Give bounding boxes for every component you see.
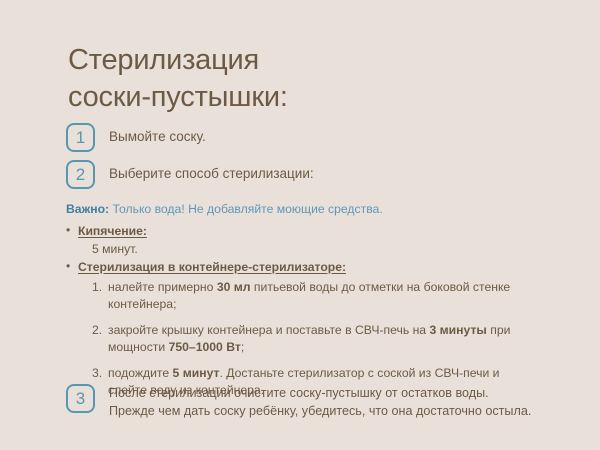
list-item-text: закройте крышку контейнера и поставьте в… (108, 322, 538, 356)
step-1-text: Вымойте соску. (109, 123, 206, 147)
plain-text: ; (241, 340, 244, 354)
method-container: • Стерилизация в контейнере-стерилизатор… (66, 260, 566, 399)
plain-text: закройте крышку контейнера и поставьте в… (108, 323, 429, 337)
important-note-lead: Важно: (66, 202, 109, 216)
step-3: 3 После стерилизации очистите соску-пуст… (66, 384, 566, 421)
step-3-text: После стерилизации очистите соску-пустыш… (109, 384, 531, 421)
bullet-icon: • (66, 224, 78, 236)
plain-text: налейте примерно (108, 280, 217, 294)
step-badge-3: 3 (66, 384, 95, 413)
emphasis-text: 5 минут (173, 366, 220, 380)
important-note: Важно: Только вода! Не добавляйте моющие… (66, 201, 383, 218)
method-boiling-heading-line: • Кипячение: (66, 224, 566, 238)
list-item-number: 1. (92, 279, 108, 296)
method-boiling: • Кипячение: 5 минут. (66, 224, 566, 258)
emphasis-text: 30 мл (217, 280, 251, 294)
list-item-number: 3. (92, 365, 108, 382)
step-badge-2: 2 (66, 160, 95, 189)
instruction-card: Стерилизация соски-пустышки: 1 Вымойте с… (0, 0, 600, 450)
method-boiling-detail: 5 минут. (92, 241, 566, 258)
list-item-text: налейте примерно 30 мл питьевой воды до … (108, 279, 538, 313)
plain-text: подождите (108, 366, 173, 380)
method-container-heading-line: • Стерилизация в контейнере-стерилизатор… (66, 260, 566, 274)
page-title: Стерилизация соски-пустышки: (68, 42, 538, 115)
method-boiling-heading: Кипячение: (78, 224, 147, 238)
emphasis-text: 3 минуты (429, 323, 486, 337)
step-1: 1 Вымойте соску. (66, 123, 206, 152)
list-item: 2.закройте крышку контейнера и поставьте… (92, 322, 566, 356)
list-item: 1.налейте примерно 30 мл питьевой воды д… (92, 279, 566, 313)
list-item-number: 2. (92, 322, 108, 339)
method-container-steps: 1.налейте примерно 30 мл питьевой воды д… (92, 279, 566, 399)
emphasis-text: 750–1000 Вт (169, 340, 241, 354)
step-2: 2 Выберите способ стерилизации: (66, 160, 314, 189)
step-2-text: Выберите способ стерилизации: (109, 160, 314, 184)
step-badge-1: 1 (66, 123, 95, 152)
bullet-icon: • (66, 260, 78, 272)
important-note-text: Только вода! Не добавляйте моющие средст… (112, 202, 382, 216)
method-container-heading: Стерилизация в контейнере-стерилизаторе: (78, 260, 346, 274)
